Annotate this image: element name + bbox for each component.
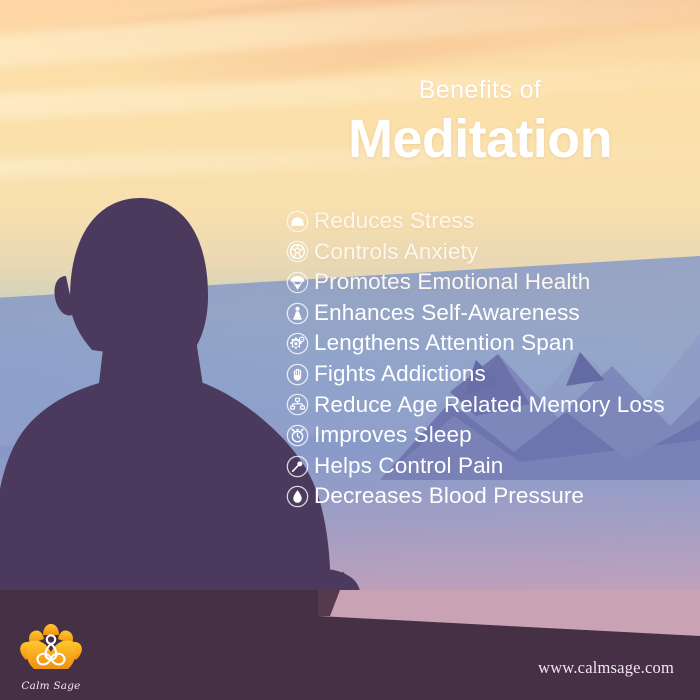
brand-logo[interactable]: Calm Sage — [12, 622, 90, 692]
list-item-label: Fights Addictions — [314, 363, 486, 386]
raised-hand-icon — [286, 363, 309, 386]
list-item-label: Promotes Emotional Health — [314, 271, 590, 294]
alarm-clock-icon — [286, 424, 309, 447]
benefits-list: Reduces Stress Controls Anxiety Promotes… — [286, 206, 686, 512]
brain-gear-icon — [286, 240, 309, 263]
list-item: Decreases Blood Pressure — [286, 481, 686, 512]
list-item: Fights Addictions — [286, 359, 686, 390]
gears-icon — [286, 332, 309, 355]
list-item-label: Helps Control Pain — [314, 455, 503, 478]
list-item: Reduces Stress — [286, 206, 686, 237]
person-figure-icon — [286, 302, 309, 325]
meditation-benefits-poster: Benefits of Meditation Reduces Stress Co… — [0, 0, 700, 700]
list-item: Lengthens Attention Span — [286, 328, 686, 359]
list-item-label: Enhances Self-Awareness — [314, 302, 580, 325]
pin-pain-icon — [286, 455, 309, 478]
brand-name-label: Calm Sage — [12, 680, 90, 692]
list-item: Reduce Age Related Memory Loss — [286, 390, 686, 421]
lotus-meditation-logo-icon — [18, 622, 84, 678]
list-item: Controls Anxiety — [286, 237, 686, 268]
footer-band — [0, 590, 700, 700]
list-item-label: Reduces Stress — [314, 210, 474, 233]
list-item: Improves Sleep — [286, 420, 686, 451]
list-item: Promotes Emotional Health — [286, 267, 686, 298]
cloud-sun-icon — [286, 210, 309, 233]
list-item-label: Reduce Age Related Memory Loss — [314, 394, 665, 417]
list-item-label: Improves Sleep — [314, 424, 472, 447]
water-drop-icon — [286, 485, 309, 508]
parachute-heart-icon — [286, 271, 309, 294]
headline-main-title: Meditation — [300, 111, 660, 168]
list-item-label: Decreases Blood Pressure — [314, 485, 584, 508]
network-nodes-icon — [286, 393, 309, 416]
list-item: Enhances Self-Awareness — [286, 298, 686, 329]
list-item: Helps Control Pain — [286, 451, 686, 482]
headline-kicker: Benefits of — [300, 78, 660, 103]
list-item-label: Controls Anxiety — [314, 241, 478, 264]
poster-headline: Benefits of Meditation — [300, 78, 660, 168]
list-item-label: Lengthens Attention Span — [314, 332, 574, 355]
website-url[interactable]: www.calmsage.com — [538, 658, 674, 678]
